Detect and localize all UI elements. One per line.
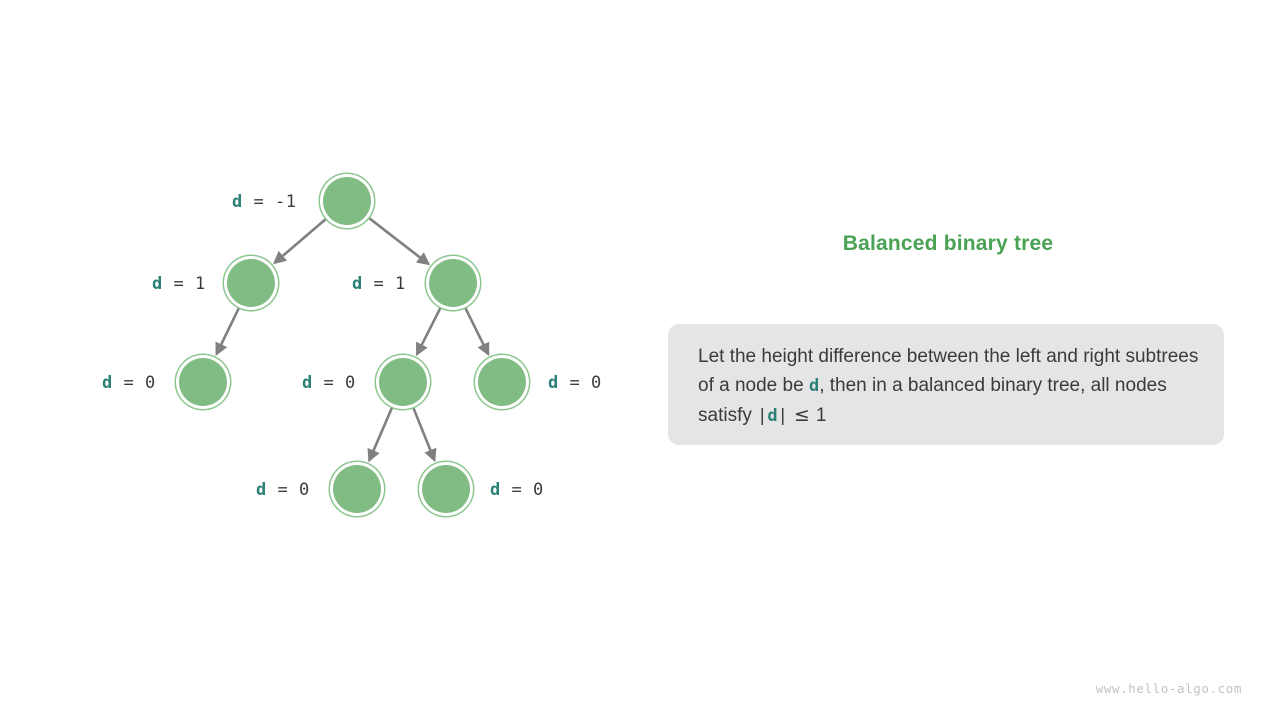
binary-tree-diagram: d = -1d = 1d = 1d = 0d = 0d = 0d = 0d = … — [0, 0, 660, 720]
label-value: 0 — [345, 373, 356, 393]
definition-text: Let the height difference between the le… — [698, 342, 1202, 431]
label-equals: = — [113, 373, 145, 393]
tree-node-right-right — [478, 358, 526, 406]
label-variable: d — [152, 274, 163, 294]
label-variable: d — [352, 274, 363, 294]
tree-edge — [217, 307, 240, 354]
tree-edge — [369, 407, 392, 461]
label-left: d = 1 — [152, 274, 206, 294]
tree-edge — [368, 218, 428, 265]
tree-edge — [413, 407, 434, 460]
tree-node-root — [323, 177, 371, 225]
variable-d-2: d — [767, 406, 777, 426]
label-equals: = — [243, 192, 275, 212]
label-equals: = — [363, 274, 395, 294]
label-variable: d — [102, 373, 113, 393]
label-variable: d — [232, 192, 243, 212]
relation-operator: ≤ — [788, 404, 816, 426]
label-value: 0 — [533, 480, 544, 500]
variable-d-1: d — [809, 376, 819, 396]
tree-node-rl-left — [333, 465, 381, 513]
tree-edge — [465, 307, 488, 354]
label-variable: d — [548, 373, 559, 393]
page-title: Balanced binary tree — [660, 232, 1236, 256]
label-equals: = — [501, 480, 533, 500]
label-value: 0 — [591, 373, 602, 393]
tree-edges — [0, 0, 660, 720]
label-rl-left: d = 0 — [256, 480, 310, 500]
tree-node-left-left — [179, 358, 227, 406]
label-value: -1 — [275, 192, 296, 212]
abs-bar-close: | — [778, 406, 788, 426]
label-equals: = — [267, 480, 299, 500]
label-equals: = — [163, 274, 195, 294]
label-right-left: d = 0 — [302, 373, 356, 393]
limit-value: 1 — [816, 405, 827, 426]
label-value: 1 — [195, 274, 206, 294]
label-rl-right: d = 0 — [490, 480, 544, 500]
label-right: d = 1 — [352, 274, 406, 294]
explanation-panel: Balanced binary tree Let the height diff… — [660, 0, 1280, 720]
definition-callout: Let the height difference between the le… — [668, 324, 1224, 445]
tree-node-right — [429, 259, 477, 307]
label-equals: = — [559, 373, 591, 393]
watermark: www.hello-algo.com — [1096, 681, 1242, 696]
label-equals: = — [313, 373, 345, 393]
label-variable: d — [490, 480, 501, 500]
tree-node-right-left — [379, 358, 427, 406]
label-variable: d — [302, 373, 313, 393]
slide-canvas: d = -1d = 1d = 1d = 0d = 0d = 0d = 0d = … — [0, 0, 1280, 720]
label-value: 0 — [145, 373, 156, 393]
label-value: 0 — [299, 480, 310, 500]
tree-node-rl-right — [422, 465, 470, 513]
tree-edge — [417, 307, 441, 354]
edge-group — [217, 218, 489, 461]
label-left-left: d = 0 — [102, 373, 156, 393]
tree-edge — [275, 219, 327, 263]
label-right-right: d = 0 — [548, 373, 602, 393]
label-root: d = -1 — [232, 192, 296, 212]
abs-bar-open: | — [757, 406, 767, 426]
tree-node-left — [227, 259, 275, 307]
label-value: 1 — [395, 274, 406, 294]
label-variable: d — [256, 480, 267, 500]
